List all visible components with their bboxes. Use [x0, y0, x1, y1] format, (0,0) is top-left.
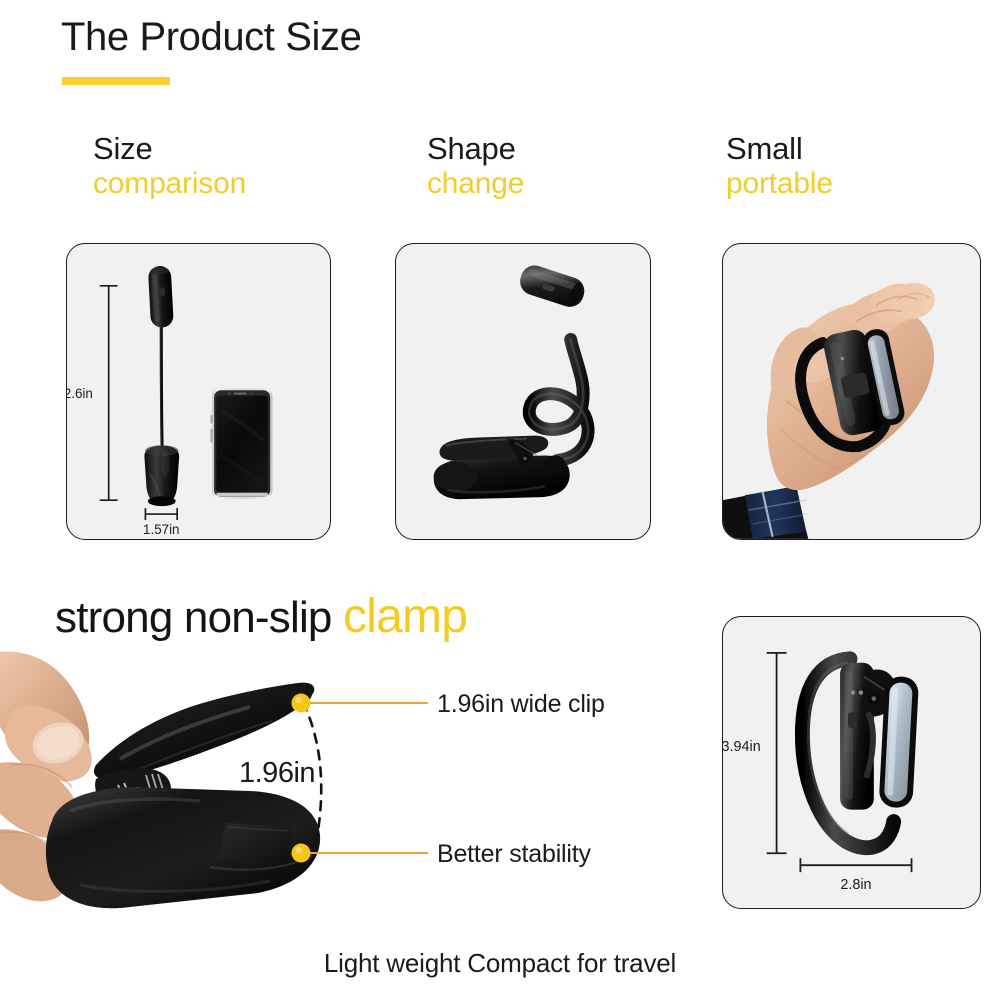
heading-size-comparison: Size comparison [93, 133, 246, 199]
footer-caption: Light weight Compact for travel [0, 948, 1000, 979]
clamp-section-heading: strong non-slip clamp [55, 592, 467, 642]
heading-line2: portable [726, 169, 833, 199]
heading-line1: Shape [427, 133, 524, 164]
dimension-label-height: 3.94in [723, 739, 761, 755]
leader-line-wide-clip [290, 688, 430, 718]
panel-folded-dimensions: 3.94in 2.8in [722, 616, 981, 909]
leader-line-better-stability [290, 838, 430, 868]
dimension-label-width: 1.57in [143, 522, 179, 537]
title-underline-accent [62, 77, 170, 85]
smartphone-illustration [211, 388, 273, 499]
callout-wide-clip: 1.96in wide clip [437, 690, 605, 719]
dimension-line-horizontal [145, 508, 177, 520]
dimension-line-vertical [100, 286, 118, 500]
page-title: The Product Size [61, 14, 361, 60]
dimension-label-height: 12.6in [67, 386, 93, 401]
heading-line1: Small [726, 133, 833, 164]
heading-line1: Size [93, 133, 246, 164]
panel-shape-change [395, 243, 651, 540]
heading-line2: comparison [93, 169, 246, 199]
dimension-label-width: 2.8in [840, 877, 871, 893]
lamp-gooseneck-illustration [434, 262, 588, 499]
heading-small-portable: Small portable [726, 133, 833, 199]
folded-lamp-illustration [802, 659, 919, 848]
shirt-cuff [723, 486, 808, 539]
dimension-line-horizontal [800, 858, 911, 872]
clamp-assembly [434, 436, 570, 500]
panel-size-comparison: 12.6in 1.57in [66, 243, 331, 540]
lamp-illustration [144, 265, 179, 506]
clamp-heading-black: strong non-slip [55, 593, 332, 642]
clamp-heading-yellow: clamp [343, 590, 467, 643]
dimension-line-vertical [767, 653, 787, 853]
heading-shape-change: Shape change [427, 133, 524, 199]
panel-small-portable [722, 243, 981, 540]
callout-better-stability: Better stability [437, 840, 591, 869]
gap-dimension-label: 1.96in [239, 757, 315, 790]
heading-line2: change [427, 169, 524, 199]
